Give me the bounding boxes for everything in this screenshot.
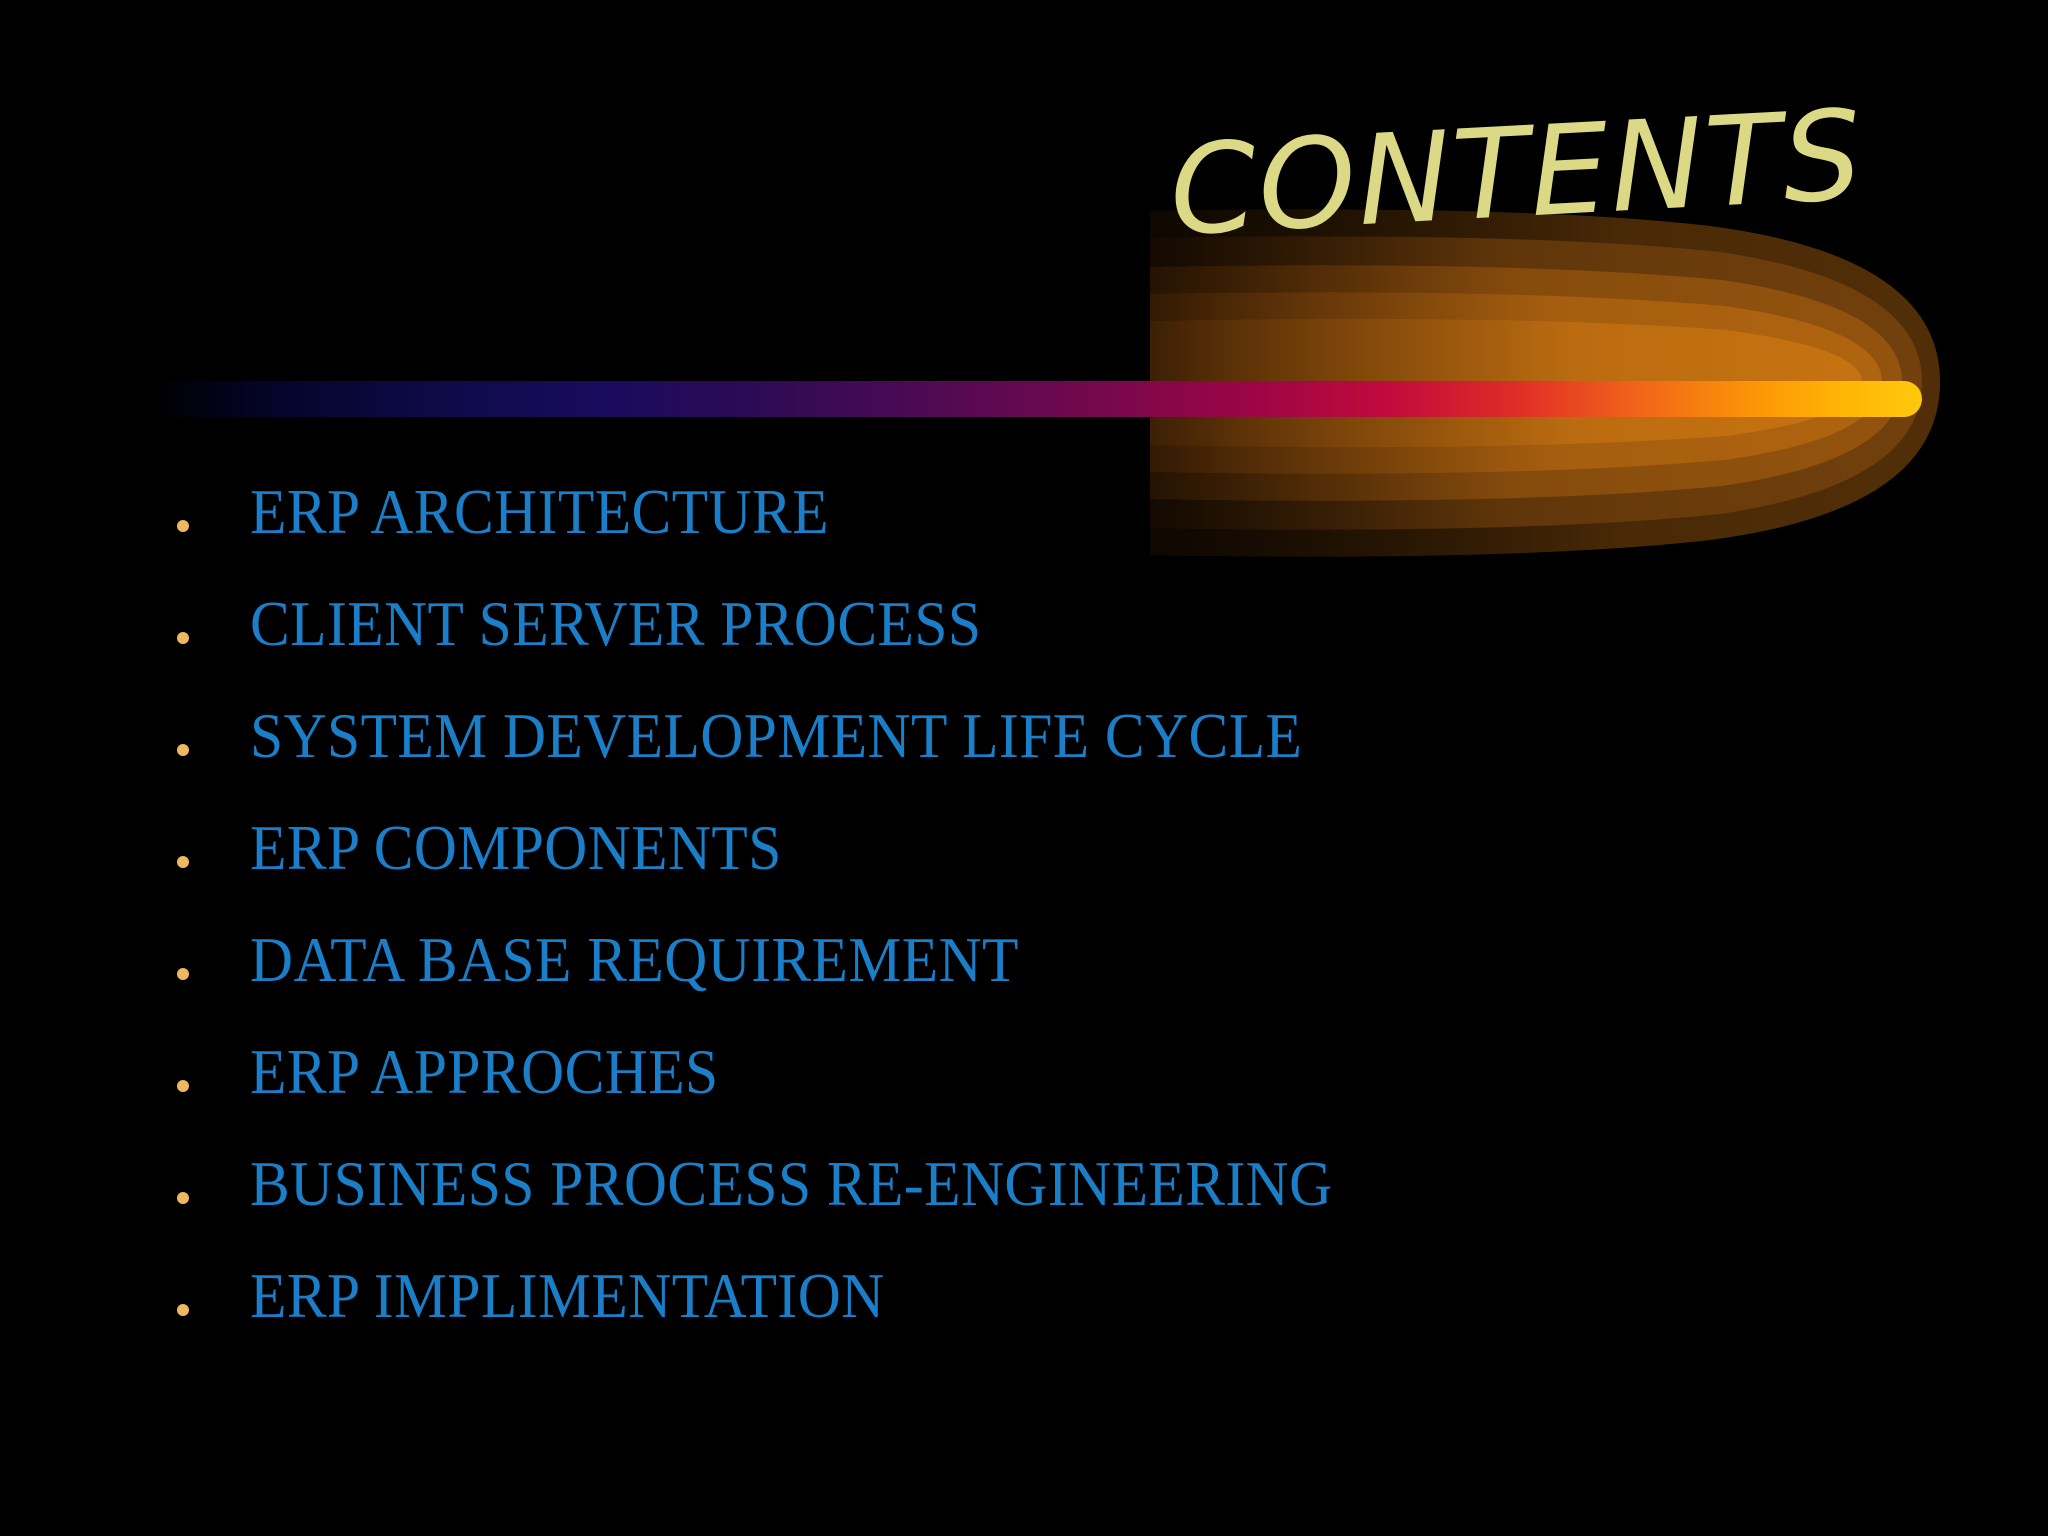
list-item[interactable]: ERP IMPLIMENTATION [0, 1254, 1700, 1366]
list-item[interactable]: BUSINESS PROCESS RE-ENGINEERING [0, 1142, 1700, 1254]
bullet-dot-icon [177, 520, 189, 532]
list-item-label: ERP ARCHITECTURE [250, 478, 829, 545]
list-item-label: ERP COMPONENTS [250, 814, 782, 881]
bullet-dot-icon [177, 1192, 189, 1204]
bullet-dot-icon [177, 1080, 189, 1092]
list-item[interactable]: CLIENT SERVER PROCESS [0, 582, 1700, 694]
bullet-dot-icon [177, 1304, 189, 1316]
list-item[interactable]: ERP COMPONENTS [0, 806, 1700, 918]
gradient-streak [150, 381, 1922, 417]
bullet-dot-icon [177, 856, 189, 868]
bullet-dot-icon [177, 968, 189, 980]
bullet-dot-icon [177, 744, 189, 756]
list-item[interactable]: DATA BASE REQUIREMENT [0, 918, 1700, 1030]
list-item-label: DATA BASE REQUIREMENT [250, 926, 1019, 993]
page-title: CONTENTS [1167, 89, 1952, 254]
list-item-label: ERP IMPLIMENTATION [250, 1262, 885, 1329]
list-item-label: CLIENT SERVER PROCESS [250, 590, 982, 657]
list-item-label: ERP APPROCHES [250, 1038, 719, 1105]
list-item[interactable]: SYSTEM DEVELOPMENT LIFE CYCLE [0, 694, 1700, 806]
presentation-slide: CONTENTS ERP ARCHITECTURE CLIENT SERVER … [0, 0, 2048, 1536]
list-item[interactable]: ERP APPROCHES [0, 1030, 1700, 1142]
list-item[interactable]: ERP ARCHITECTURE [0, 470, 1700, 582]
contents-list: ERP ARCHITECTURE CLIENT SERVER PROCESS S… [0, 470, 1700, 1366]
list-item-label: BUSINESS PROCESS RE-ENGINEERING [250, 1150, 1333, 1217]
list-item-label: SYSTEM DEVELOPMENT LIFE CYCLE [250, 702, 1302, 769]
bullet-dot-icon [177, 632, 189, 644]
